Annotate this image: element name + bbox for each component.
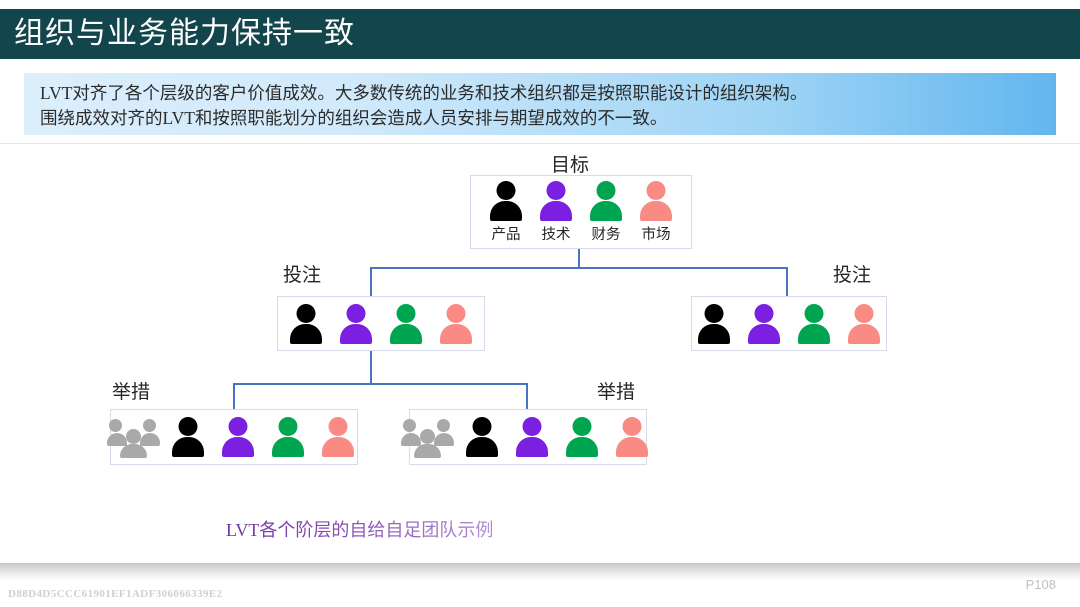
connector-bet-right bbox=[786, 267, 788, 297]
person-icon-market bbox=[609, 416, 655, 458]
person-icon-tech bbox=[533, 180, 579, 222]
person-icon-product bbox=[459, 416, 505, 458]
diagram-canvas: 目标 投注 投注 举措 举措 产品 技术 财务 市场 bbox=[0, 143, 1080, 563]
subtitle-line-2: 围绕成效对齐的LVT和按照职能划分的组织会造成人员安排与期望成效的不一致。 bbox=[40, 106, 1040, 131]
person-icon-product bbox=[165, 416, 211, 458]
people-group-icon bbox=[401, 416, 455, 458]
level-label-bet-left: 投注 bbox=[283, 260, 321, 287]
diagram-caption: LVT各个阶层的自给自足团队示例 bbox=[226, 516, 493, 542]
slide-title-bar: 组织与业务能力保持一致 bbox=[0, 9, 1080, 59]
role-label-product: 产品 bbox=[483, 223, 529, 244]
person-icon-tech bbox=[509, 416, 555, 458]
page-number: P108 bbox=[1026, 577, 1056, 592]
person-icon-market bbox=[433, 303, 479, 345]
people-row bbox=[278, 303, 484, 345]
node-bet-left[interactable] bbox=[277, 296, 485, 351]
person-icon-product bbox=[483, 180, 529, 222]
role-label-market: 市场 bbox=[633, 223, 679, 244]
role-label-finance: 财务 bbox=[583, 223, 629, 244]
person-icon-market bbox=[633, 180, 679, 222]
connector-action-left bbox=[233, 383, 235, 409]
person-icon-finance bbox=[383, 303, 429, 345]
subtitle-banner: LVT对齐了各个层级的客户价值成效。大多数传统的业务和技术组织都是按照职能设计的… bbox=[24, 73, 1056, 135]
person-icon-product bbox=[691, 303, 737, 345]
role-labels-row: 产品 技术 财务 市场 bbox=[471, 223, 691, 244]
person-icon-market bbox=[841, 303, 887, 345]
role-label-tech: 技术 bbox=[533, 223, 579, 244]
person-icon-tech bbox=[215, 416, 261, 458]
people-group-icon bbox=[107, 416, 161, 458]
people-row bbox=[471, 180, 691, 222]
node-goal[interactable]: 产品 技术 财务 市场 bbox=[470, 175, 692, 249]
connector-bet-left bbox=[370, 267, 372, 297]
connector-action-bar bbox=[233, 383, 528, 385]
people-row bbox=[410, 416, 646, 458]
level-label-goal: 目标 bbox=[551, 150, 589, 177]
level-label-act-left: 举措 bbox=[112, 377, 150, 404]
person-icon-finance bbox=[265, 416, 311, 458]
node-bet-right[interactable] bbox=[691, 296, 887, 351]
slide-footer: D88D4D5CCC61901EF1ADF306066339E2 P108 bbox=[0, 563, 1080, 607]
node-act-left[interactable] bbox=[110, 409, 358, 465]
people-row bbox=[692, 303, 886, 345]
person-icon-product bbox=[283, 303, 329, 345]
person-icon-tech bbox=[333, 303, 379, 345]
person-icon-tech bbox=[741, 303, 787, 345]
level-label-bet-right: 投注 bbox=[833, 260, 871, 287]
person-icon-finance bbox=[791, 303, 837, 345]
connector-action-right bbox=[526, 383, 528, 409]
footer-watermark: D88D4D5CCC61901EF1ADF306066339E2 bbox=[8, 588, 222, 600]
people-row bbox=[111, 416, 357, 458]
person-icon-finance bbox=[559, 416, 605, 458]
connector-bet-bar bbox=[370, 267, 788, 269]
subtitle-line-1: LVT对齐了各个层级的客户价值成效。大多数传统的业务和技术组织都是按照职能设计的… bbox=[40, 81, 1040, 106]
person-icon-market bbox=[315, 416, 361, 458]
connector-bet-left-stem bbox=[370, 350, 372, 385]
level-label-act-right: 举措 bbox=[597, 377, 635, 404]
page-title: 组织与业务能力保持一致 bbox=[0, 19, 355, 49]
node-act-right[interactable] bbox=[409, 409, 647, 465]
slide-root: 组织与业务能力保持一致 LVT对齐了各个层级的客户价值成效。大多数传统的业务和技… bbox=[0, 0, 1080, 607]
connector-goal-stem bbox=[578, 247, 580, 269]
person-icon-finance bbox=[583, 180, 629, 222]
